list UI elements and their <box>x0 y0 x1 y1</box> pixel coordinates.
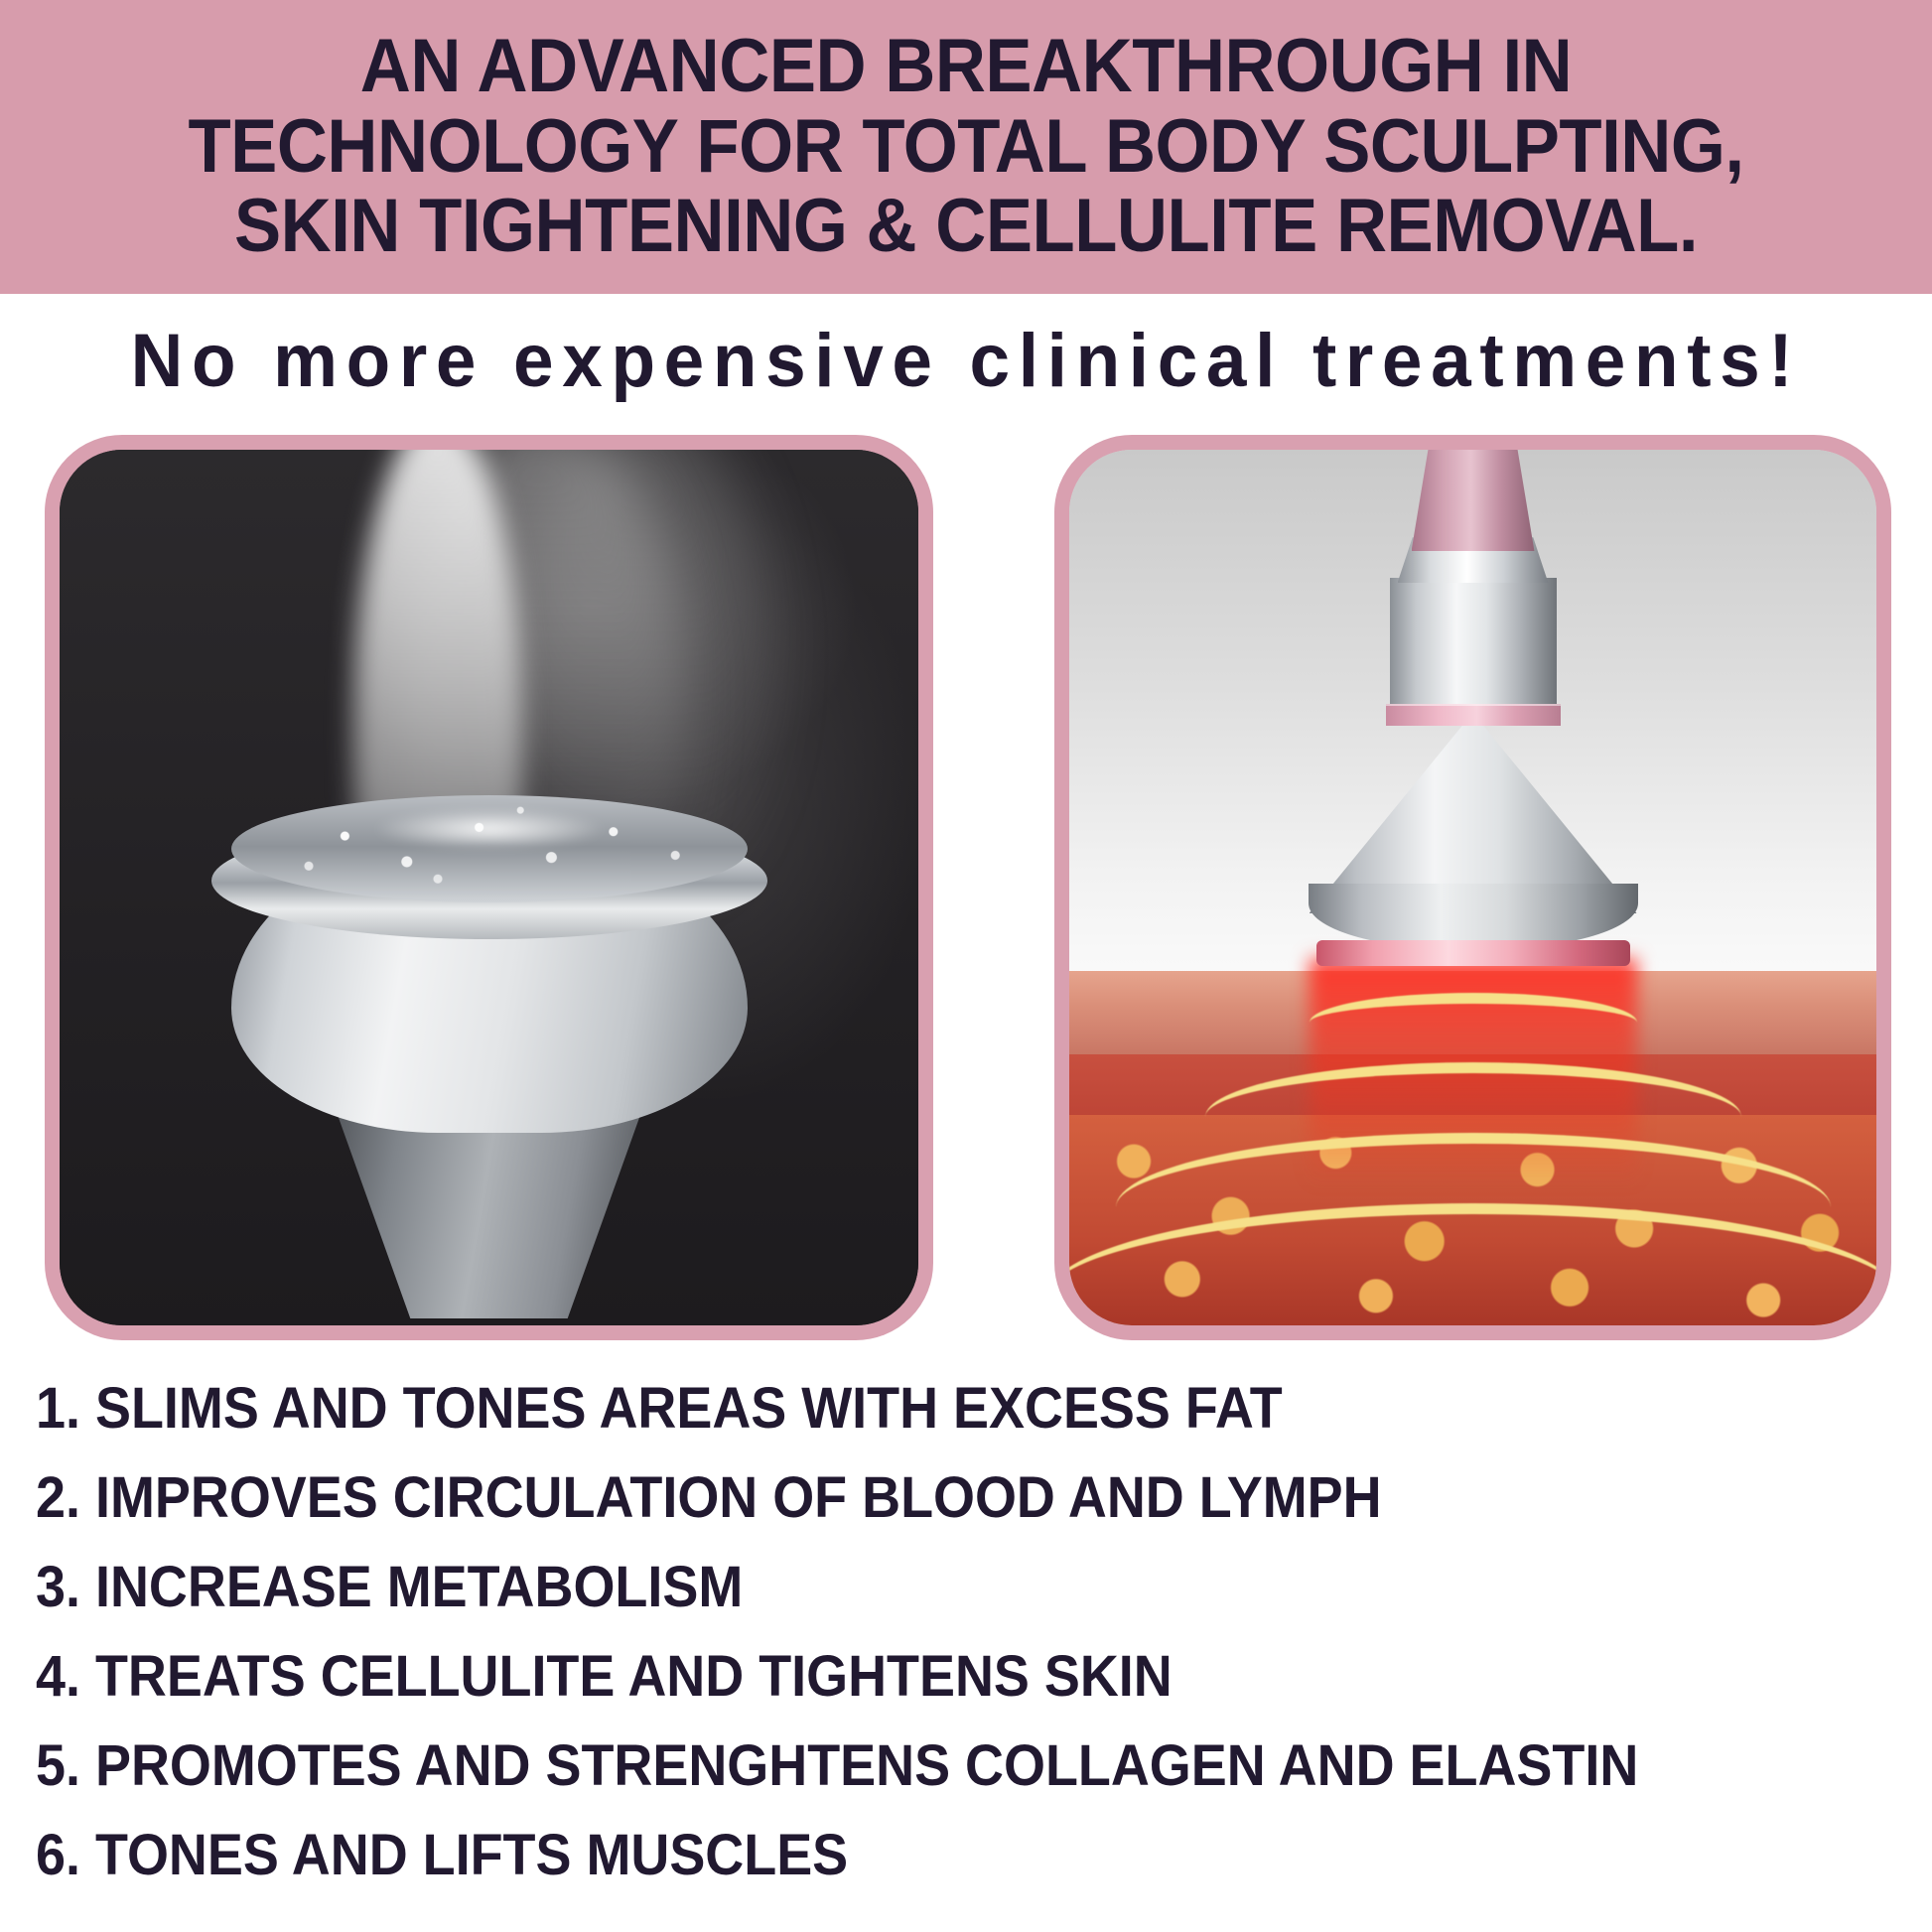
header-banner: AN ADVANCED BREAKTHROUGH IN TECHNOLOGY F… <box>0 0 1932 294</box>
benefit-item: 5. PROMOTES AND STRENGHTENS COLLAGEN AND… <box>36 1737 1771 1795</box>
device-gloss-highlight <box>375 809 604 849</box>
benefit-item: 3. INCREASE METABOLISM <box>36 1559 1771 1616</box>
benefit-item: 1. SLIMS AND TONES AREAS WITH EXCESS FAT <box>36 1380 1771 1438</box>
device-pink-accent-ring <box>1386 704 1561 726</box>
benefit-item: 6. TONES AND LIFTS MUSCLES <box>36 1827 1771 1884</box>
benefit-item: 4. TREATS CELLULITE AND TIGHTENS SKIN <box>36 1648 1771 1706</box>
product-image-row <box>0 435 1932 1342</box>
device-treatment-tip <box>1316 940 1630 966</box>
page-title: AN ADVANCED BREAKTHROUGH IN TECHNOLOGY F… <box>135 27 1797 267</box>
rf-wave-arc <box>1310 993 1637 1052</box>
device-handle <box>1412 435 1535 551</box>
subtitle-text: No more expensive clinical treatments! <box>39 318 1893 404</box>
product-photo-skin-diagram <box>1054 435 1891 1340</box>
benefits-list: 1. SLIMS AND TONES AREAS WITH EXCESS FAT… <box>36 1380 1902 1916</box>
product-photo-steam-device <box>45 435 933 1340</box>
device-neck <box>1390 578 1557 715</box>
benefit-item: 2. IMPROVES CIRCULATION OF BLOOD AND LYM… <box>36 1469 1771 1527</box>
